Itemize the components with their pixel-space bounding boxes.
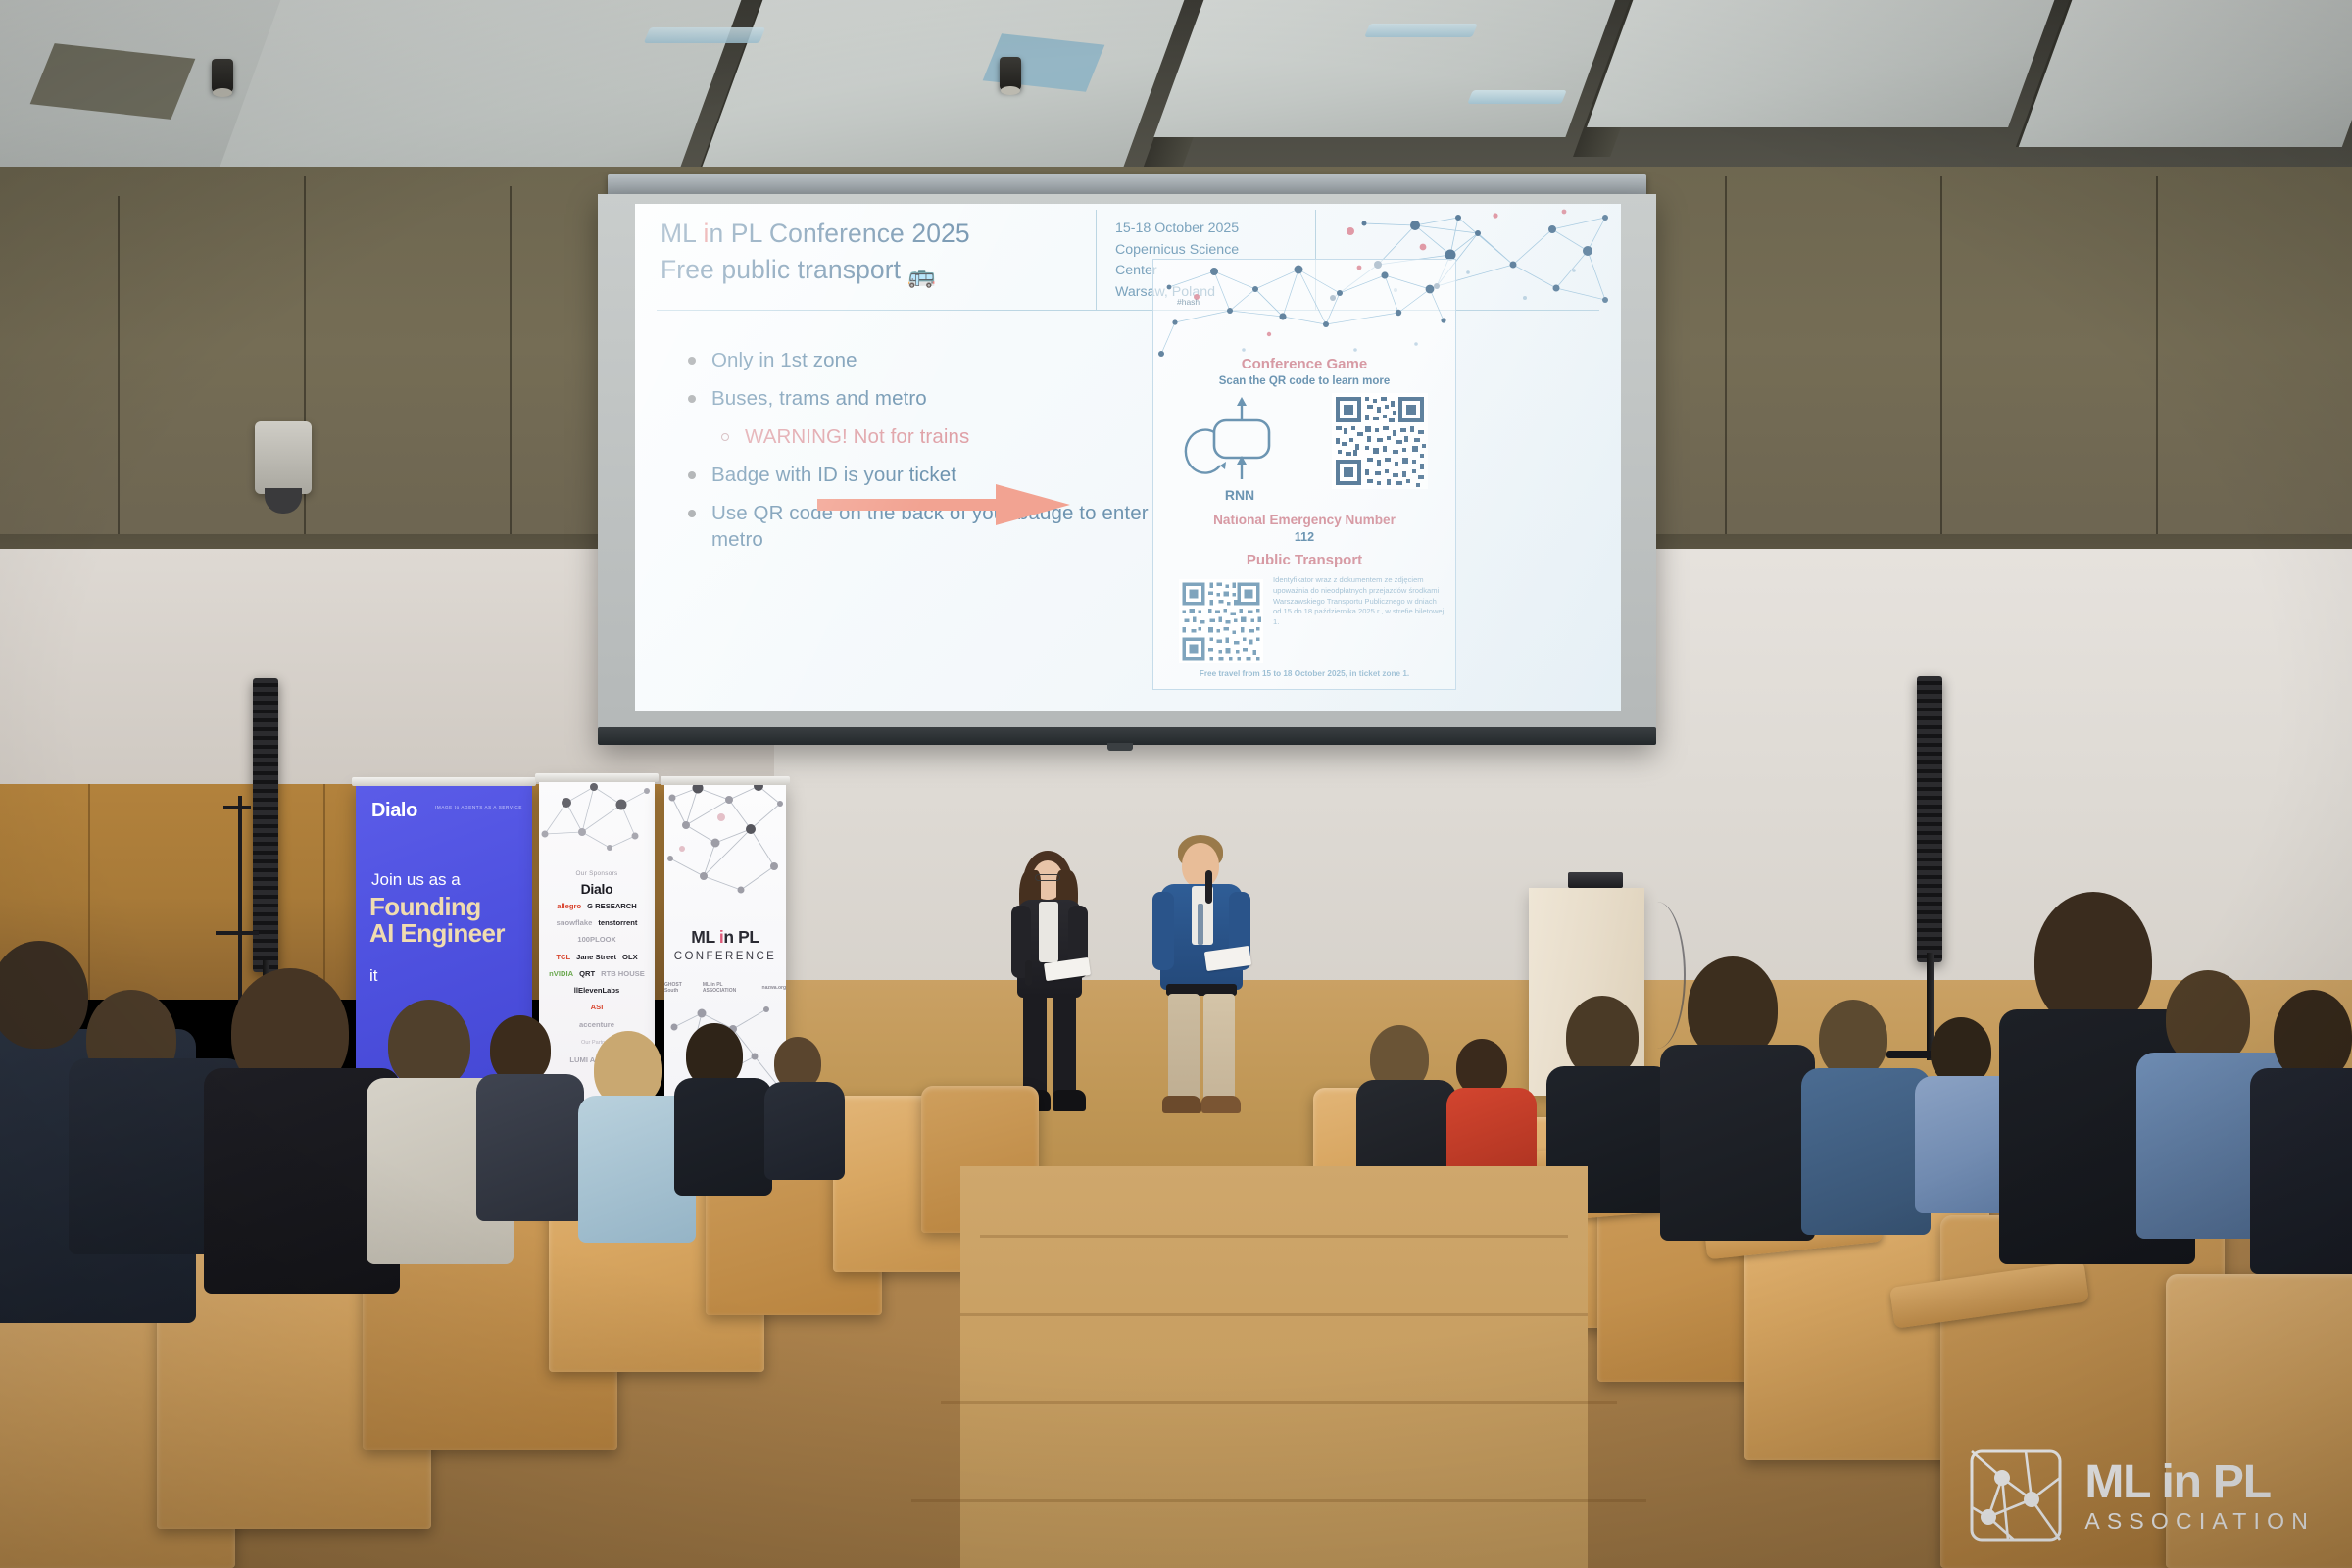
sponsor-logo-janestreet: Jane Street bbox=[576, 953, 616, 961]
ceiling-spotlight bbox=[1000, 57, 1021, 90]
panel-heading-conference-game: Conference Game bbox=[1153, 356, 1455, 372]
microphone bbox=[1025, 960, 1032, 986]
projection-screen-housing bbox=[608, 174, 1646, 196]
mic-stand-arm bbox=[216, 931, 259, 935]
sponsor-logo-tenstorrent: tenstorrent bbox=[598, 918, 637, 927]
wall-seam bbox=[1940, 176, 1942, 588]
slide-header-rule bbox=[657, 310, 1599, 311]
sponsor-row: accenture bbox=[539, 1020, 655, 1029]
bullet-dot-icon bbox=[688, 471, 696, 479]
dialo-line1: Join us as a bbox=[371, 870, 461, 890]
mlinpl-logo: ML in PL bbox=[664, 927, 786, 948]
rnn-diagram-icon bbox=[1181, 395, 1298, 489]
pointing-arrow-icon bbox=[817, 482, 1072, 527]
emergency-number: 112 bbox=[1153, 530, 1455, 544]
microphone bbox=[1205, 870, 1212, 904]
network-graph-decoration bbox=[539, 779, 655, 869]
ceiling-panel bbox=[1153, 0, 1619, 137]
ceiling-light bbox=[644, 27, 765, 43]
bullet-text: WARNING! Not for trains bbox=[745, 423, 969, 451]
ceiling-spotlight bbox=[212, 59, 233, 92]
aisle-step bbox=[941, 1401, 1617, 1404]
sponsor-logo-gresearch: G RESEARCH bbox=[587, 902, 637, 910]
dialo-headline: Founding AI Engineer bbox=[369, 894, 505, 947]
mic-stand bbox=[238, 796, 242, 1021]
sponsor-row: snowflaketenstorrent bbox=[539, 918, 655, 927]
dialo-tagline: IMAGE to AGENTS AS A SERVICE bbox=[435, 805, 522, 809]
qr-code-public-transport bbox=[1179, 579, 1263, 663]
leg bbox=[1023, 994, 1047, 1096]
audience-head bbox=[2034, 892, 2152, 1029]
conference-info-panel: #hash Conference Game Scan the QR code t… bbox=[1152, 259, 1456, 690]
bullet-dot-icon bbox=[688, 357, 696, 365]
audience-member bbox=[764, 1082, 845, 1180]
network-graph-decoration bbox=[664, 782, 786, 909]
bullet-text: Buses, trams and metro bbox=[711, 385, 927, 413]
slide-header-divider bbox=[1096, 210, 1097, 310]
speaker-woman bbox=[1000, 851, 1117, 1125]
audience-head bbox=[388, 1000, 470, 1090]
lanyard bbox=[1198, 904, 1203, 945]
arm bbox=[1152, 892, 1174, 970]
audience-member bbox=[476, 1074, 584, 1221]
mic-stand-arm bbox=[223, 806, 251, 809]
audience-member bbox=[1801, 1068, 1931, 1235]
auditorium-photo: ML in PL Conference 2025 Free public tra… bbox=[0, 0, 2352, 1568]
dialo-line4: it bbox=[369, 966, 378, 986]
projection-screen-tab bbox=[1107, 743, 1133, 751]
bullet-dot-icon bbox=[688, 395, 696, 403]
shoe bbox=[1201, 1096, 1241, 1113]
qr-code-conference-game bbox=[1332, 393, 1428, 489]
aisle-step bbox=[911, 1499, 1646, 1502]
slide-subtitle: Free public transport bbox=[661, 255, 901, 284]
watermark-title: ML in PL bbox=[2084, 1459, 2315, 1506]
ceiling-panel bbox=[1587, 0, 2058, 127]
line-array-speaker-left bbox=[253, 678, 278, 972]
bullet-dot-icon bbox=[688, 510, 696, 517]
ceiling-panel bbox=[2019, 0, 2352, 147]
sponsor-logo-elevenlabs: llElevenLabs bbox=[574, 986, 619, 995]
bus-icon: 🚌 bbox=[907, 261, 936, 292]
leg bbox=[1203, 994, 1235, 1102]
sponsor-logo-qrt: QRT bbox=[579, 969, 595, 978]
sponsor-row: allegroG RESEARCH bbox=[539, 902, 655, 910]
audience-head bbox=[1819, 1000, 1887, 1078]
sponsor-logo-asi: ASI bbox=[591, 1003, 604, 1011]
dialo-logo: Dialo bbox=[371, 800, 417, 822]
sponsor-row-headline: Dialo bbox=[539, 881, 655, 897]
banner-top-cap bbox=[661, 776, 790, 785]
bullet-item-warning: WARNING! Not for trains bbox=[721, 423, 1149, 451]
shoe bbox=[1162, 1096, 1201, 1113]
bullet-item: Only in 1st zone bbox=[688, 347, 1149, 374]
glasses-icon bbox=[1035, 874, 1060, 881]
dialo-headline-line2: AI Engineer bbox=[369, 918, 505, 948]
hash-label: #hash bbox=[1177, 297, 1200, 307]
sponsor-logo-allegro: allegro bbox=[557, 902, 581, 910]
polish-legal-text: Identyfikator wraz z dokumentem ze zdjęc… bbox=[1273, 575, 1445, 628]
sponsor-logo-nvidia: nVIDIA bbox=[549, 969, 573, 978]
sponsor-logo-olx: OLX bbox=[622, 953, 638, 961]
slide-title: ML in PL Conference 2025 Free public tra… bbox=[661, 216, 1092, 291]
sponsors-title: Our Sponsors bbox=[539, 870, 655, 877]
sponsor-logo-snowflake: snowflake bbox=[557, 918, 593, 927]
bullet-ring-icon bbox=[721, 433, 729, 441]
wall-seam bbox=[118, 196, 120, 588]
security-camera bbox=[255, 421, 312, 494]
dialo-headline-line1: Founding bbox=[369, 892, 481, 921]
mlinpl-logo-ml: ML bbox=[691, 927, 719, 947]
slide-title-ml: ML bbox=[661, 219, 704, 248]
aisle-step bbox=[980, 1235, 1568, 1238]
center-aisle bbox=[960, 1166, 1588, 1568]
watermark-logo: ML in PL ASSOCIATION bbox=[1969, 1448, 2315, 1543]
sponsor-logo-100ploox: 100PLOOX bbox=[577, 935, 615, 944]
sponsor-logo-accenture: accenture bbox=[579, 1020, 614, 1029]
bullet-item: Buses, trams and metro bbox=[688, 385, 1149, 413]
panel-subheading-scan-qr: Scan the QR code to learn more bbox=[1153, 375, 1455, 387]
audience-head bbox=[0, 941, 88, 1049]
lectern-device bbox=[1568, 872, 1623, 888]
sponsor-row: TCLJane StreetOLX bbox=[539, 953, 655, 961]
slide-bullet-list: Only in 1st zone Buses, trams and metro … bbox=[688, 347, 1149, 564]
ceiling-light bbox=[1364, 24, 1478, 37]
watermark-subtitle: ASSOCIATION bbox=[2084, 1510, 2315, 1533]
panel-footer-note: Free travel from 15 to 18 October 2025, … bbox=[1153, 669, 1455, 678]
ceiling-panel bbox=[699, 0, 1188, 176]
boot bbox=[1053, 1090, 1086, 1111]
rnn-label: RNN bbox=[1181, 487, 1298, 503]
wall-seam bbox=[304, 176, 306, 588]
mlinpl-subtitle: CONFERENCE bbox=[664, 951, 786, 962]
ceiling-light bbox=[1467, 90, 1567, 104]
network-graph-square-icon bbox=[1969, 1448, 2063, 1543]
wall-seam bbox=[510, 186, 512, 588]
sponsor-logo-rtbhouse: RTB HOUSE bbox=[601, 969, 645, 978]
slide-title-rest: n PL Conference 2025 bbox=[710, 219, 970, 248]
audience-member bbox=[674, 1078, 772, 1196]
speaker-man bbox=[1145, 835, 1272, 1129]
watermark-text: ML in PL ASSOCIATION bbox=[2084, 1459, 2315, 1533]
presentation-slide: ML in PL Conference 2025 Free public tra… bbox=[635, 204, 1621, 711]
panel-heading-emergency: National Emergency Number bbox=[1153, 513, 1455, 527]
line-array-speaker-right bbox=[1917, 676, 1942, 962]
mlinpl-logo-npl: n PL bbox=[723, 927, 759, 947]
leg bbox=[1053, 994, 1076, 1096]
wall-seam bbox=[2156, 176, 2158, 588]
audience-member bbox=[2250, 1068, 2352, 1274]
sponsor-row: nVIDIAQRTRTB HOUSE bbox=[539, 969, 655, 978]
panel-heading-public-transport: Public Transport bbox=[1153, 552, 1455, 568]
banner-top-cap bbox=[535, 773, 659, 782]
sponsor-row: 100PLOOX bbox=[539, 935, 655, 944]
sponsor-row: ASI bbox=[539, 1003, 655, 1011]
leg bbox=[1168, 994, 1200, 1102]
aisle-step bbox=[960, 1313, 1588, 1316]
sponsor-logo-tcl: TCL bbox=[556, 953, 570, 961]
bullet-text: Only in 1st zone bbox=[711, 347, 857, 374]
banner-top-cap bbox=[352, 777, 536, 786]
head bbox=[1182, 843, 1219, 888]
audience-member bbox=[1660, 1045, 1815, 1241]
wall-seam bbox=[1725, 176, 1727, 588]
sponsor-row: llElevenLabs bbox=[539, 986, 655, 995]
sponsor-logo-dialo: Dialo bbox=[581, 881, 613, 897]
shirt bbox=[1039, 902, 1058, 962]
